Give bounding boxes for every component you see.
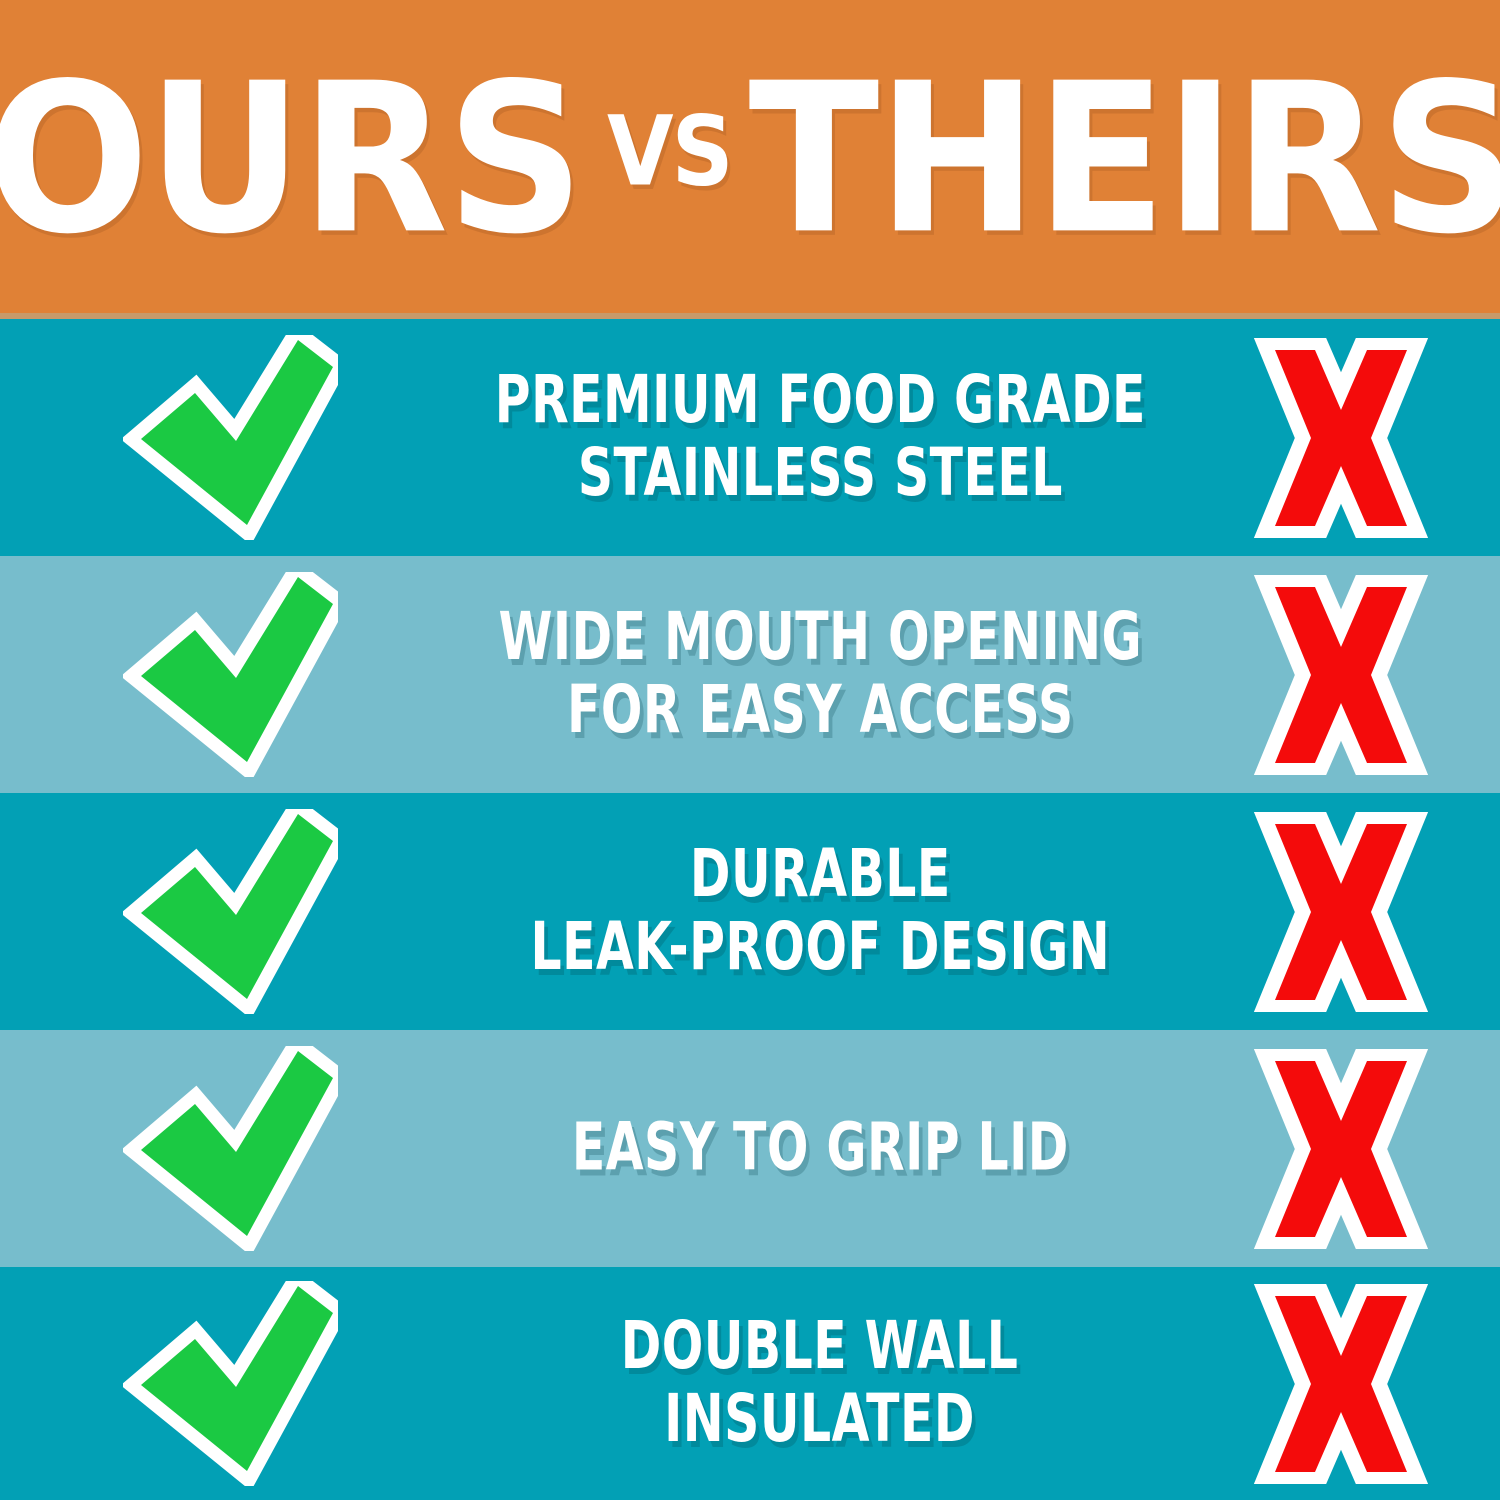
check-icon bbox=[123, 1281, 338, 1486]
header-title-group: OURS VS THEIRS bbox=[0, 0, 1500, 319]
theirs-cell bbox=[1180, 338, 1500, 538]
feature-cell: PREMIUM FOOD GRADE STAINLESS STEEL bbox=[460, 379, 1180, 495]
feature-label: PREMIUM FOOD GRADE STAINLESS STEEL bbox=[494, 364, 1145, 511]
comparison-row: EASY TO GRIP LID bbox=[0, 1030, 1500, 1267]
feature-label: DURABLE LEAK-PROOF DESIGN bbox=[530, 838, 1110, 985]
cross-icon bbox=[1253, 575, 1428, 775]
check-icon bbox=[123, 572, 338, 777]
comparison-infographic: OURS VS THEIRS PREMIUM FOOD GRADE STAINL… bbox=[0, 0, 1500, 1500]
feature-cell: DURABLE LEAK-PROOF DESIGN bbox=[460, 853, 1180, 969]
cross-icon bbox=[1253, 1049, 1428, 1249]
feature-label: DOUBLE WALL INSULATED bbox=[621, 1310, 1019, 1457]
theirs-cell bbox=[1180, 1284, 1500, 1484]
comparison-row: DURABLE LEAK-PROOF DESIGN bbox=[0, 793, 1500, 1030]
check-icon bbox=[123, 335, 338, 540]
ours-cell bbox=[0, 335, 460, 540]
header-banner: OURS VS THEIRS bbox=[0, 0, 1500, 319]
theirs-cell bbox=[1180, 1049, 1500, 1249]
feature-label: EASY TO GRIP LID bbox=[572, 1112, 1069, 1185]
theirs-cell bbox=[1180, 575, 1500, 775]
header-theirs-label: THEIRS bbox=[748, 69, 1500, 251]
ours-cell bbox=[0, 809, 460, 1014]
header-vs-label: VS bbox=[607, 96, 732, 208]
feature-cell: EASY TO GRIP LID bbox=[460, 1119, 1180, 1177]
ours-cell bbox=[0, 1281, 460, 1486]
theirs-cell bbox=[1180, 812, 1500, 1012]
ours-cell bbox=[0, 1046, 460, 1251]
feature-label: WIDE MOUTH OPENING FOR EASY ACCESS bbox=[498, 601, 1142, 748]
feature-cell: WIDE MOUTH OPENING FOR EASY ACCESS bbox=[460, 616, 1180, 732]
comparison-row: DOUBLE WALL INSULATED bbox=[0, 1267, 1500, 1500]
comparison-row: WIDE MOUTH OPENING FOR EASY ACCESS bbox=[0, 556, 1500, 793]
feature-cell: DOUBLE WALL INSULATED bbox=[460, 1325, 1180, 1441]
check-icon bbox=[123, 809, 338, 1014]
cross-icon bbox=[1253, 1284, 1428, 1484]
header-ours-label: OURS bbox=[0, 69, 583, 251]
cross-icon bbox=[1253, 812, 1428, 1012]
cross-icon bbox=[1253, 338, 1428, 538]
check-icon bbox=[123, 1046, 338, 1251]
comparison-row: PREMIUM FOOD GRADE STAINLESS STEEL bbox=[0, 319, 1500, 556]
ours-cell bbox=[0, 572, 460, 777]
